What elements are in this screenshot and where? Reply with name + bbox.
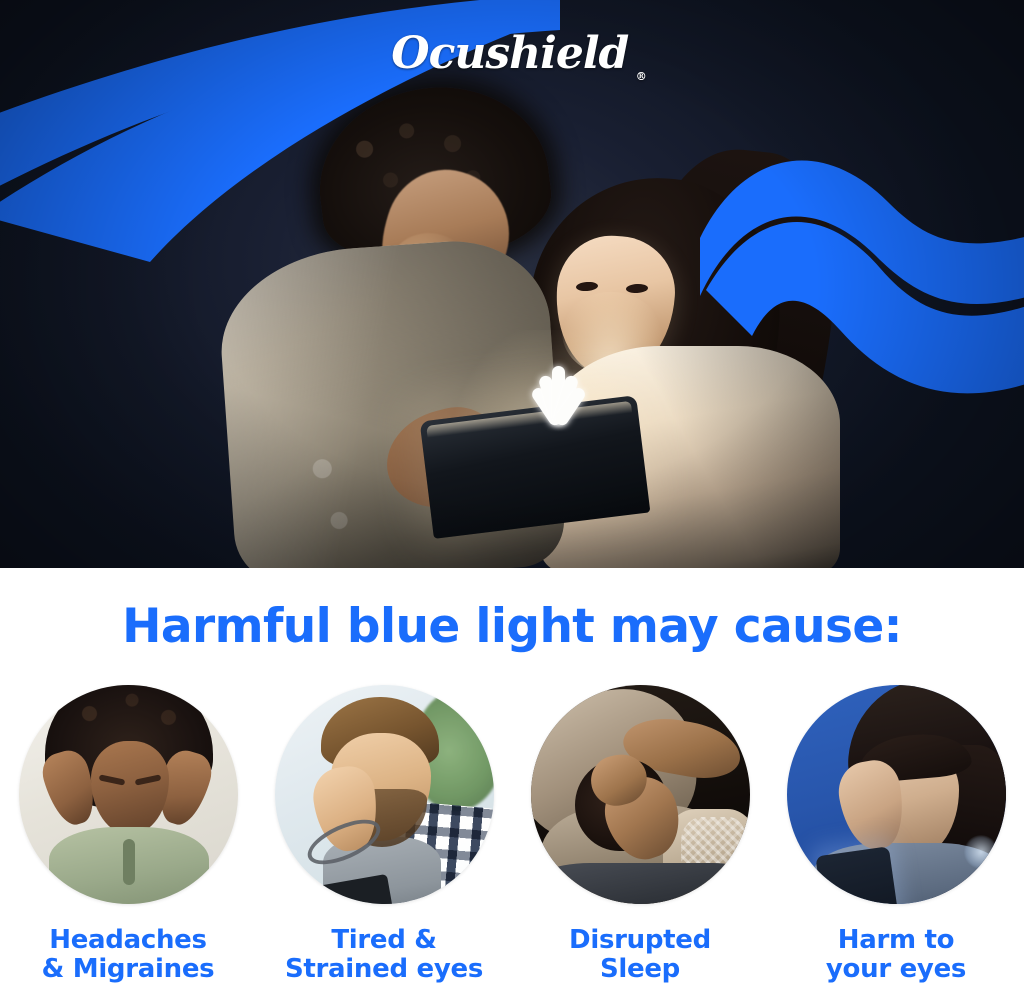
symptom-caption: Harm to your eyes — [826, 926, 966, 984]
brand-logo[interactable]: Ocushield ® — [0, 28, 1024, 79]
symptom-card-eye-harm: Harm to your eyes — [776, 685, 1016, 984]
symptom-card-tired-eyes: Tired & Strained eyes — [264, 685, 504, 984]
section-headline: Harmful blue light may cause: — [0, 599, 1024, 654]
registered-trademark-icon: ® — [636, 70, 646, 83]
symptom-caption: Disrupted Sleep — [569, 926, 711, 984]
symptoms-section: Harmful blue light may cause: Headaches … — [0, 568, 1024, 997]
symptom-image-eye-harm — [787, 685, 1006, 904]
logo-wordmark: Ocushield — [391, 28, 628, 79]
symptom-card-headaches: Headaches & Migraines — [8, 685, 248, 984]
symptom-caption: Tired & Strained eyes — [285, 926, 483, 984]
symptom-image-headaches — [19, 685, 238, 904]
infographic-page: Ocushield ® Harmful blue light may cause… — [0, 0, 1024, 997]
symptom-caption: Headaches & Migraines — [42, 926, 215, 984]
symptom-image-disrupted-sleep — [531, 685, 750, 904]
hero-vignette — [0, 0, 1024, 568]
symptom-card-disrupted-sleep: Disrupted Sleep — [520, 685, 760, 984]
hero-banner: Ocushield ® — [0, 0, 1024, 568]
symptom-card-list: Headaches & Migraines Tired & Strained e… — [0, 685, 1024, 984]
symptom-image-tired-eyes — [275, 685, 494, 904]
